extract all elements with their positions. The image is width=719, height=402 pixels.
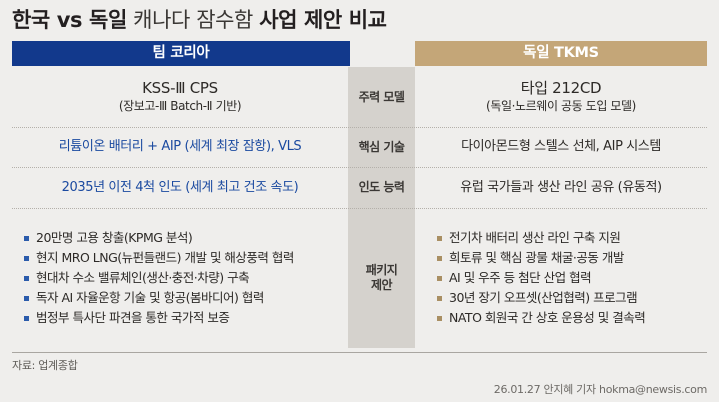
table-row: 2035년 이전 4척 인도 (세계 최고 건조 속도) 인도 능력 유럽 국가…	[12, 167, 707, 208]
table-row: 20만명 고용 창출(KPMG 분석) 현지 MRO LNG(뉴펀들랜드) 개발…	[12, 208, 707, 348]
list-item: 전기차 배터리 생산 라인 구축 지원	[435, 228, 719, 248]
tkms-package-list: 전기차 배터리 생산 라인 구축 지원 희토류 및 핵심 광물 채굴·공동 개발…	[415, 228, 719, 328]
row-3-label-cell: 인도 능력	[348, 167, 415, 208]
page-title: 한국 vs 독일 캐나다 잠수함 사업 제안 비교	[12, 4, 712, 36]
row-1-left-main: KSS-Ⅲ CPS	[142, 79, 218, 98]
row-3-right-main: 유럽 국가들과 생산 라인 공유 (유동적)	[460, 179, 661, 197]
row-2-right-cell: 다이아몬드형 스텔스 선체, AIP 시스템	[415, 127, 707, 167]
title-part-topic: 사업 제안 비교	[259, 8, 386, 32]
row-3-right-cell: 유럽 국가들과 생산 라인 공유 (유동적)	[415, 167, 707, 208]
footer-divider	[12, 352, 707, 353]
list-item: 범정부 특사단 파견을 통한 국가적 보증	[22, 308, 358, 328]
source-note: 자료: 업계종합	[12, 357, 78, 373]
row-1-left-sub: (장보고-Ⅲ Batch-Ⅱ 기반)	[119, 98, 241, 115]
row-1-label: 주력 모델	[359, 90, 405, 105]
row-3-label: 인도 능력	[359, 180, 405, 195]
row-1-label-cell: 주력 모델	[348, 67, 415, 127]
row-1-left-cell: KSS-Ⅲ CPS (장보고-Ⅲ Batch-Ⅱ 기반)	[12, 67, 348, 127]
list-item: 현지 MRO LNG(뉴펀들랜드) 개발 및 해상풍력 협력	[22, 248, 358, 268]
list-item: AI 및 우주 등 첨단 산업 협력	[435, 268, 719, 288]
list-item: NATO 회원국 간 상호 운용성 및 결속력	[435, 308, 719, 328]
byline: 26.01.27 안지혜 기자 hokma@newsis.com	[494, 381, 707, 397]
row-2-label: 핵심 기술	[359, 140, 405, 155]
row-4-label-line2: 제안	[371, 278, 392, 293]
list-item: 30년 장기 오프셋(산업협력) 프로그램	[435, 288, 719, 308]
row-4-right-cell: 전기차 배터리 생산 라인 구축 지원 희토류 및 핵심 광물 채굴·공동 개발…	[415, 208, 707, 348]
comparison-table: KSS-Ⅲ CPS (장보고-Ⅲ Batch-Ⅱ 기반) 주력 모델 타입 21…	[12, 67, 707, 348]
row-4-left-cell: 20만명 고용 창출(KPMG 분석) 현지 MRO LNG(뉴펀들랜드) 개발…	[12, 208, 348, 348]
row-2-label-cell: 핵심 기술	[348, 127, 415, 167]
team-korea-package-list: 20만명 고용 창출(KPMG 분석) 현지 MRO LNG(뉴펀들랜드) 개발…	[12, 228, 358, 328]
row-2-left-main: 리튬이온 배터리 + AIP (세계 최장 잠항), VLS	[59, 138, 302, 156]
row-4-label-line1: 패키지	[366, 263, 398, 278]
row-1-right-cell: 타입 212CD (독일·노르웨이 공동 도입 모델)	[415, 67, 707, 127]
table-row: 리튬이온 배터리 + AIP (세계 최장 잠항), VLS 핵심 기술 다이아…	[12, 127, 707, 167]
column-header-team-korea: 팀 코리아	[12, 41, 350, 66]
title-part-countries: 한국 vs 독일	[12, 8, 127, 32]
row-3-left-cell: 2035년 이전 4척 인도 (세계 최고 건조 속도)	[12, 167, 348, 208]
list-item: 현대차 수소 밸류체인(생산·충전·차량) 구축	[22, 268, 358, 288]
row-3-left-main: 2035년 이전 4척 인도 (세계 최고 건조 속도)	[62, 179, 299, 197]
row-2-left-cell: 리튬이온 배터리 + AIP (세계 최장 잠항), VLS	[12, 127, 348, 167]
row-1-right-main: 타입 212CD	[521, 79, 602, 98]
table-row: KSS-Ⅲ CPS (장보고-Ⅲ Batch-Ⅱ 기반) 주력 모델 타입 21…	[12, 67, 707, 127]
row-2-right-main: 다이아몬드형 스텔스 선체, AIP 시스템	[461, 138, 661, 156]
infographic-canvas: 한국 vs 독일 캐나다 잠수함 사업 제안 비교 팀 코리아 독일 TKMS …	[0, 0, 719, 402]
column-header-tkms: 독일 TKMS	[415, 41, 707, 66]
list-item: 희토류 및 핵심 광물 채굴·공동 개발	[435, 248, 719, 268]
list-item: 독자 AI 자율운항 기술 및 항공(봄바디어) 협력	[22, 288, 358, 308]
title-part-subject: 캐나다 잠수함	[127, 8, 259, 32]
list-item: 20만명 고용 창출(KPMG 분석)	[22, 228, 358, 248]
row-4-label-cell: 패키지 제안	[348, 208, 415, 348]
row-1-right-sub: (독일·노르웨이 공동 도입 모델)	[486, 98, 636, 115]
